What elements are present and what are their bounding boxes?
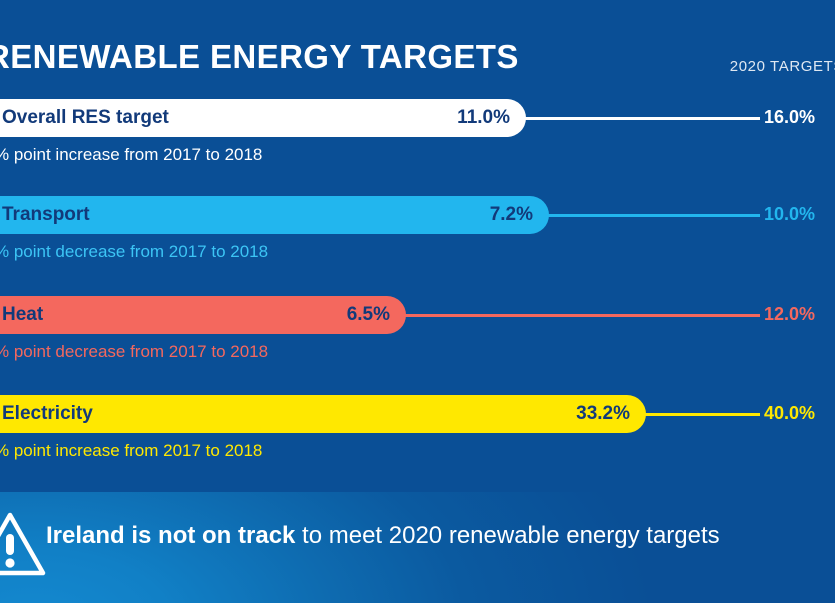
bar-electricity: Electricity 33.2% (0, 395, 646, 433)
footer-bold-text: Ireland is not on track (46, 522, 295, 549)
footer-note: Ireland is not on track to meet 2020 ren… (0, 497, 835, 603)
target-value-overall: 16.0% (764, 107, 815, 128)
renewable-energy-targets-infographic: RENEWABLE ENERGY TARGETS 2020 TARGETS Ov… (0, 0, 835, 603)
bar-label-overall: Overall RES target (2, 107, 169, 129)
bar-value-overall: 11.0% (457, 107, 510, 129)
bar-value-transport: 7.2% (490, 204, 533, 226)
target-value-electricity: 40.0% (764, 403, 815, 424)
caption-electricity: % point increase from 2017 to 2018 (0, 441, 262, 461)
target-value-transport: 10.0% (764, 204, 815, 225)
connector-line-electricity (640, 413, 760, 416)
bar-value-heat: 6.5% (347, 304, 390, 326)
connector-line-heat (400, 314, 760, 317)
bar-overall: Overall RES target 11.0% (0, 99, 526, 137)
bar-label-electricity: Electricity (2, 403, 93, 425)
bar-heat: Heat 6.5% (0, 296, 406, 334)
target-column-header: 2020 TARGETS (730, 58, 835, 75)
connector-line-overall (520, 117, 760, 120)
connector-line-transport (543, 214, 760, 217)
bar-transport: Transport 7.2% (0, 196, 549, 234)
bar-label-heat: Heat (2, 304, 43, 326)
footer-light-text: to meet 2020 renewable energy targets (295, 522, 719, 549)
bar-value-electricity: 33.2% (576, 403, 630, 425)
warning-triangle-icon (0, 509, 48, 579)
bar-label-transport: Transport (2, 204, 90, 226)
caption-transport: % point decrease from 2017 to 2018 (0, 242, 268, 262)
target-value-heat: 12.0% (764, 304, 815, 325)
caption-heat: % point decrease from 2017 to 2018 (0, 342, 268, 362)
footer-message: Ireland is not on track to meet 2020 ren… (46, 521, 720, 551)
caption-overall: % point increase from 2017 to 2018 (0, 145, 262, 165)
page-title: RENEWABLE ENERGY TARGETS (0, 38, 519, 76)
